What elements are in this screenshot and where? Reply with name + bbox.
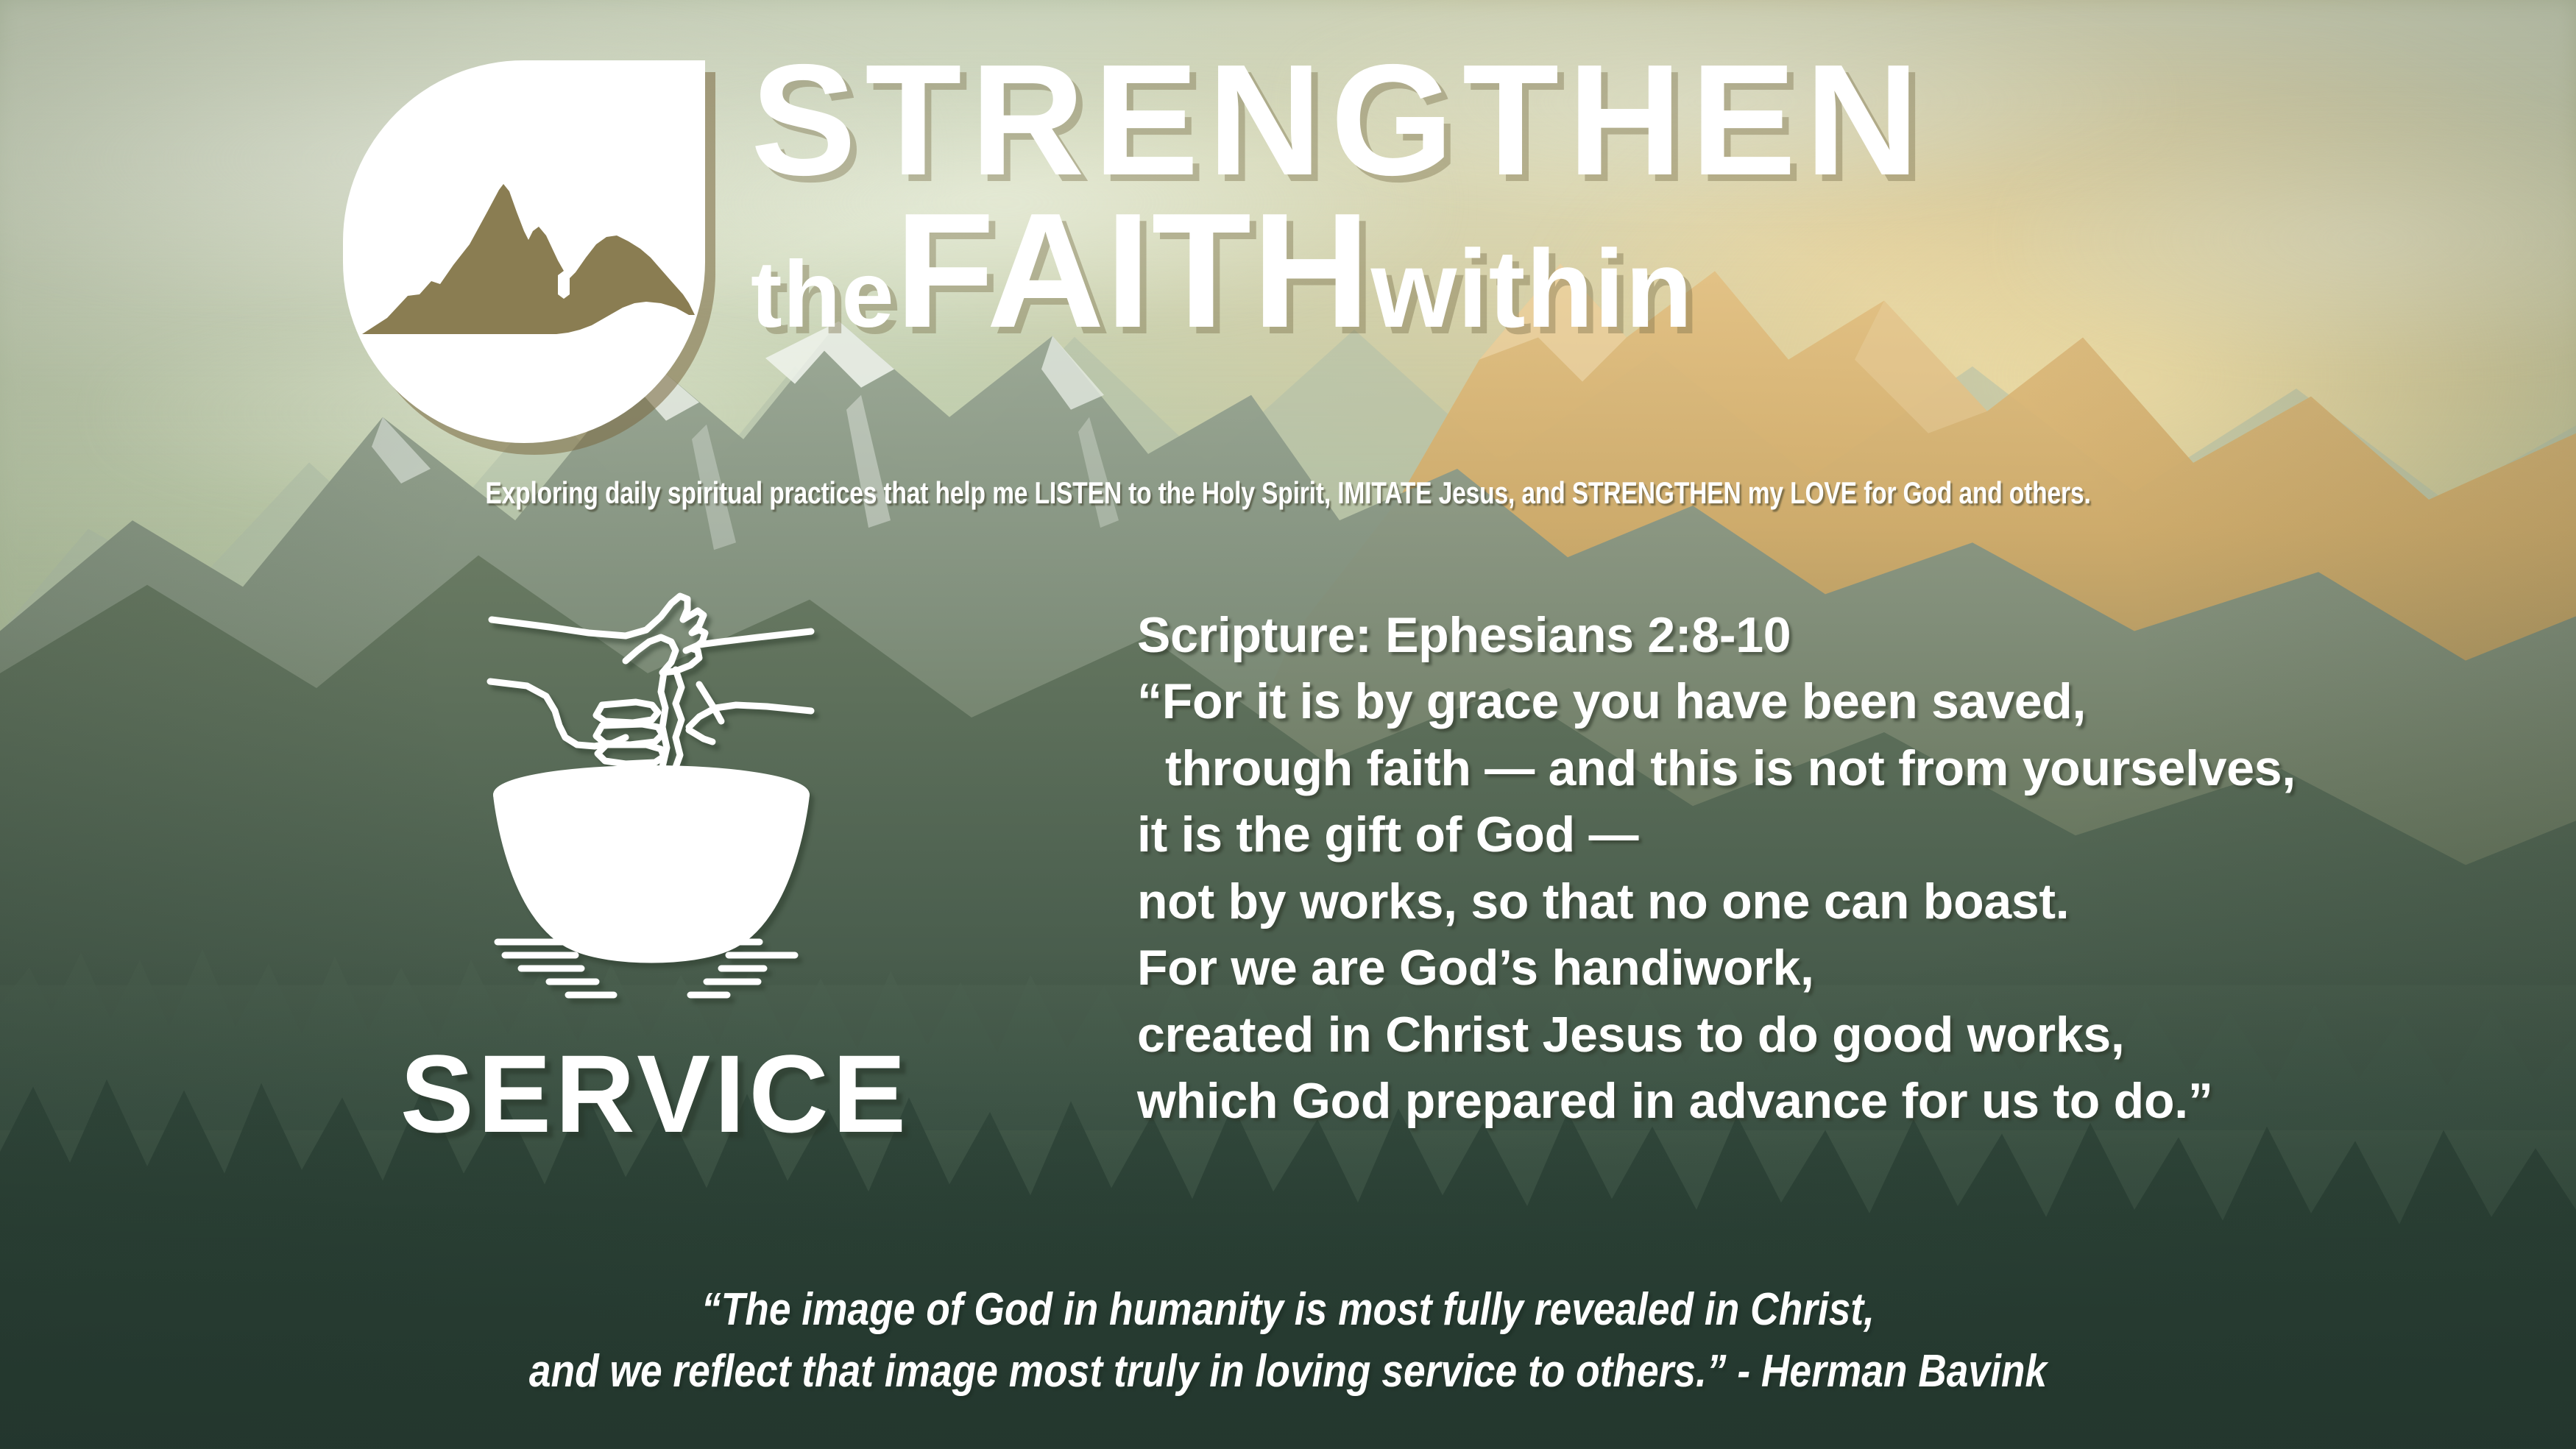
practice-label: SERVICE [346,1030,964,1158]
brand-tagline: Exploring daily spiritual practices that… [258,475,2318,511]
scripture-line: not by works, so that no one can boast. [1137,868,2506,935]
closing-quote: “The image of God in humanity is most fu… [180,1279,2396,1403]
scripture-block: Scripture: Ephesians 2:8-10 “For it is b… [1137,602,2506,1135]
mountain-cross-shield-icon [343,60,705,443]
scripture-line: which God prepared in advance for us to … [1137,1068,2506,1134]
basin-washing-hands-icon [478,574,824,1016]
scripture-reference: Scripture: Ephesians 2:8-10 [1137,602,2506,668]
scripture-line: created in Christ Jesus to do good works… [1137,1002,2506,1068]
scripture-line: “For it is by grace you have been saved, [1137,668,2506,734]
quote-line-1: “The image of God in humanity is most fu… [180,1279,2396,1341]
title-strengthen: STRENGTHEN [751,46,2517,194]
scripture-line: For we are God’s handiwork, [1137,935,2506,1001]
title-faith: FAITH [895,196,1371,346]
slide-canvas: STRENGTHEN theFAITHwithin Exploring dail… [0,0,2576,1449]
title-second-line: theFAITHwithin [751,196,2517,346]
title-the: the [751,252,895,339]
quote-line-2: and we reflect that image most truly in … [180,1341,2396,1403]
brand-wordmark: STRENGTHEN theFAITHwithin [751,46,2517,346]
scripture-line: it is the gift of God — [1137,801,2506,868]
brand-logo [343,60,705,443]
scripture-line: through faith — and this is not from you… [1137,735,2506,801]
title-within: within [1371,238,1694,339]
slide-content: STRENGTHEN theFAITHwithin Exploring dail… [0,0,2576,1449]
